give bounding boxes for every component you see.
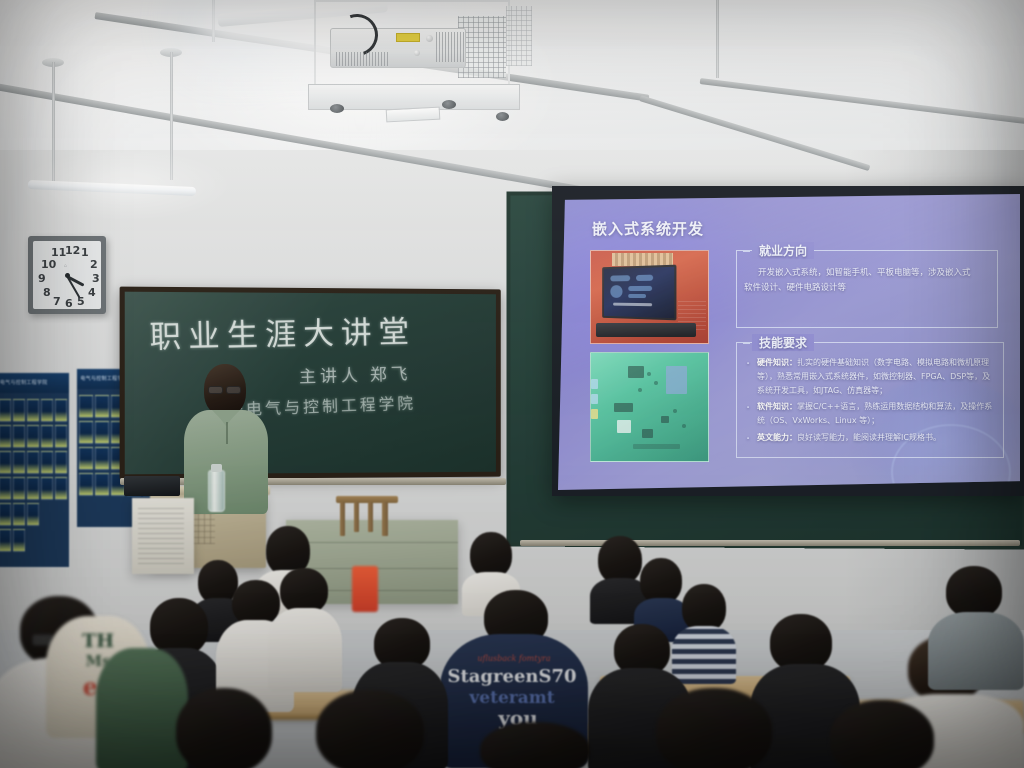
poster-cell (41, 425, 53, 448)
ceiling-rod-1 (52, 62, 55, 182)
wooden-chair (336, 496, 398, 540)
projector-vent-grille (436, 32, 464, 62)
chalkboard-speaker-line: 主讲人 郑飞 (299, 360, 412, 388)
poster-cell (95, 473, 109, 496)
poster-cell (41, 477, 53, 500)
chair-back-slat (340, 502, 345, 536)
poster-cell (55, 399, 67, 422)
poster-cell (79, 395, 93, 418)
poster-cell (13, 451, 25, 474)
chair-back-slat (354, 502, 359, 532)
poster-cell (13, 477, 25, 500)
device-backdrop-stripes (612, 253, 673, 266)
projector-foot-3 (496, 112, 509, 121)
poster-cell (55, 425, 67, 448)
employment-paragraph-line-2: 软件设计、硬件电路设计等 (744, 281, 992, 296)
clock-numeral-9: 9 (38, 272, 46, 285)
pcb-chip (614, 403, 633, 413)
poster-cell (0, 503, 11, 526)
side-cabinet-lines (138, 506, 184, 564)
poster-cell (41, 399, 53, 422)
pcb-connector (591, 379, 598, 389)
student-front-dark (470, 722, 620, 768)
chair-back-slat (382, 502, 388, 536)
projector-warning-label (396, 33, 420, 42)
pcb-pad (638, 388, 642, 392)
clock-numeral-8: 8 (43, 286, 51, 299)
student-head (656, 688, 772, 768)
clock-numeral-4: 4 (88, 286, 96, 299)
clock-face: 12 1 2 3 4 5 6 7 8 9 10 11 ⌂ (33, 241, 101, 309)
chalkboard-title: 职业生涯大讲堂 (149, 306, 417, 357)
poster-cell (13, 425, 25, 448)
device-touchscreen (603, 264, 677, 320)
projector-assembly (300, 0, 532, 128)
projector-cage-vent-right (506, 6, 532, 66)
ceiling-rod-4 (716, 0, 719, 78)
poster-cell (27, 503, 39, 526)
projector-knob-1 (426, 35, 433, 42)
device-ui-tile (628, 285, 652, 290)
projector-foot-1 (330, 104, 344, 113)
poster-cell (95, 421, 109, 444)
poster-cell (0, 451, 11, 474)
water-bottle-cap (211, 464, 222, 472)
poster-header-text: 电气与控制工程学院 (0, 379, 48, 386)
slide-title: 嵌入式系统开发 (592, 218, 704, 239)
slide-panel-text-employment: 开发嵌入式系统，如智能手机、平板电脑等，涉及嵌入式 软件设计、硬件电路设计等 (744, 266, 992, 296)
speaker (182, 364, 272, 514)
slide-panel-text-skills: 硬件知识：扎实的硬件基础知识（数字电路、模拟电路和微机原理等），熟悉常用嵌入式系… (744, 356, 996, 448)
chalkboard: 职业生涯大讲堂 主讲人 郑飞 一电气与控制工程学院 (120, 287, 501, 480)
poster-cell (95, 447, 109, 470)
skills-bullet-software: 软件知识：掌握C/C++语言，熟练运用数据结构和算法，及操作系统（OS、VxWo… (744, 400, 996, 428)
pcb-chip (617, 420, 631, 433)
student-head (316, 690, 424, 768)
clock-numeral-1: 1 (81, 246, 89, 259)
poster-cell (0, 399, 11, 422)
clock-numeral-12: 12 (65, 244, 80, 257)
device-ui-tile (613, 302, 652, 307)
poster-cell (27, 451, 39, 474)
poster-cell (79, 447, 93, 470)
device-ui-tile (611, 285, 623, 298)
pcb-chip (628, 366, 643, 378)
clock-numeral-3: 3 (92, 272, 100, 285)
poster-cell (0, 477, 11, 500)
projector-front-grille (336, 52, 390, 66)
poster-cell (55, 451, 67, 474)
student-front-right (630, 688, 800, 768)
device-ui-tile (636, 274, 653, 280)
student-torso (268, 608, 342, 692)
slide-image-embedded-device (590, 250, 709, 344)
clock-numeral-7: 7 (53, 295, 61, 308)
speaker-glasses (226, 386, 241, 394)
poster-cell (13, 503, 25, 526)
skills-bullet-term: 软件知识： (757, 402, 797, 411)
slide-image-circuit-board (590, 352, 709, 462)
wall-clock: 12 1 2 3 4 5 6 7 8 9 10 11 ⌂ (28, 236, 106, 314)
chair-back-slat (368, 502, 373, 532)
poster-board-left: 电气与控制工程学院 (0, 372, 70, 568)
ceiling-rod-3 (212, 0, 215, 42)
slide-panel-label-skills: 技能要求 (752, 334, 814, 351)
lecture-hall-photo: 12 1 2 3 4 5 6 7 8 9 10 11 ⌂ 电气与控制工程学院 (0, 0, 1024, 768)
skills-bullet-english: 英文能力：良好读写能力，能阅读并理解IC规格书。 (744, 431, 996, 445)
student-front-center (152, 688, 302, 768)
poster-cell (95, 395, 109, 418)
pcb-chip (642, 429, 653, 439)
presentation-slide: 嵌入式系统开发 (558, 194, 1020, 490)
poster-cell (0, 529, 11, 552)
pcb-connector (591, 409, 598, 419)
projector-knob-2 (414, 50, 420, 56)
student-right-3 (928, 566, 1024, 686)
employment-paragraph-line-1: 开发嵌入式系统，如智能手机、平板电脑等，涉及嵌入式 (744, 266, 992, 281)
pcb-pad (654, 381, 658, 385)
speaker-glasses (208, 386, 223, 394)
speaker-placket (226, 422, 228, 444)
student-mid-5 (268, 568, 342, 688)
student-front-center-2 (296, 690, 456, 768)
device-base (596, 323, 697, 338)
poster-cell (27, 477, 39, 500)
device-ui-tile (628, 293, 646, 298)
device-ui-tile (611, 275, 631, 281)
student-head (830, 700, 934, 768)
clock-center-pin (65, 273, 70, 278)
skills-bullet-hardware: 硬件知识：扎实的硬件基础知识（数字电路、模拟电路和微机原理等），熟悉常用嵌入式系… (744, 356, 996, 397)
poster-cell (13, 529, 25, 552)
skills-bullet-term: 英文能力： (757, 433, 797, 442)
student-torso (928, 612, 1024, 690)
orange-object-on-cabinet (352, 566, 378, 612)
poster-cell (0, 425, 11, 448)
ceiling-rod-2 (170, 52, 173, 180)
student-head (480, 722, 590, 768)
projector-lens-shroud (386, 107, 441, 123)
skills-bullet-text: 良好读写能力，能阅读并理解IC规格书。 (797, 433, 941, 442)
poster-cell (41, 451, 53, 474)
poster-cell (27, 399, 39, 422)
pcb-pad (647, 372, 651, 376)
chair-top-rail (336, 496, 398, 503)
clock-numeral-6: 6 (65, 297, 73, 310)
poster-cell (55, 477, 67, 500)
pcb-chip (661, 416, 669, 424)
pcb-chip (666, 366, 687, 394)
pcb-pad (673, 409, 677, 413)
pcb-trace-block (633, 444, 680, 449)
student-front-far-right (816, 700, 966, 768)
projector-foot-2 (442, 100, 456, 109)
water-bottle[interactable] (208, 470, 225, 512)
poster-cell (79, 473, 93, 496)
poster-cell (27, 425, 39, 448)
student-head (176, 688, 272, 768)
podium-equipment (124, 476, 180, 496)
pcb-pad (682, 424, 686, 428)
poster-cell (79, 421, 93, 444)
poster-cell (13, 399, 25, 422)
skills-bullet-term: 硬件知识： (757, 358, 797, 367)
clock-brand: ⌂ (64, 263, 67, 269)
pcb-connector (591, 394, 598, 404)
slide-panel-label-employment: 就业方向 (752, 242, 814, 259)
clock-numeral-10: 10 (41, 258, 56, 271)
clock-numeral-2: 2 (90, 258, 98, 271)
clock-numeral-11: 11 (51, 246, 66, 259)
projection-screen: 嵌入式系统开发 (552, 186, 1024, 496)
student-head (946, 566, 1002, 618)
